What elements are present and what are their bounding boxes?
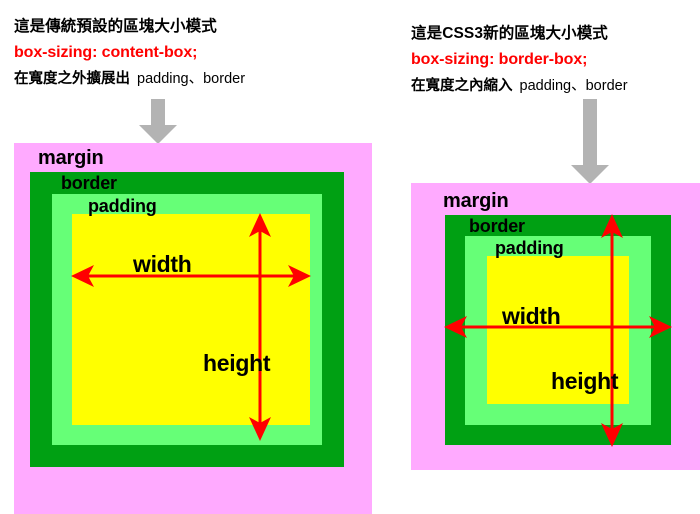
caption-line-description: 這是CSS3新的區塊大小模式 xyxy=(411,21,700,47)
content-area xyxy=(72,214,310,425)
height-label: height xyxy=(203,350,270,377)
margin-label: margin xyxy=(443,190,508,213)
caption-line-description: 這是傳統預設的區塊大小模式 xyxy=(14,14,374,40)
down-arrow-icon xyxy=(570,99,610,185)
caption-detail-prefix: 在寬度之內縮入 xyxy=(411,78,513,94)
caption-detail-prefix: 在寬度之外擴展出 xyxy=(14,71,130,87)
caption-line-detail: 在寬度之外擴展出padding、border xyxy=(14,66,374,92)
caption-line-detail: 在寬度之內縮入padding、border xyxy=(411,73,700,99)
height-label: height xyxy=(551,368,618,395)
padding-label: padding xyxy=(495,238,564,259)
diagram-canvas: 這是傳統預設的區塊大小模式 box-sizing: content-box; 在… xyxy=(0,0,700,514)
width-label: width xyxy=(133,251,192,278)
padding-label: padding xyxy=(88,196,157,217)
down-arrow-icon xyxy=(138,99,178,145)
caption-content-box: 這是傳統預設的區塊大小模式 box-sizing: content-box; 在… xyxy=(14,14,374,92)
border-label: border xyxy=(469,216,525,237)
margin-label: margin xyxy=(38,147,103,170)
caption-detail-plain: padding、border xyxy=(513,78,628,94)
caption-line-code: box-sizing: border-box; xyxy=(411,47,700,73)
caption-border-box: 這是CSS3新的區塊大小模式 box-sizing: border-box; 在… xyxy=(411,21,700,99)
caption-line-code: box-sizing: content-box; xyxy=(14,40,374,66)
width-label: width xyxy=(502,303,561,330)
caption-detail-plain: padding、border xyxy=(130,71,245,87)
border-label: border xyxy=(61,173,117,194)
